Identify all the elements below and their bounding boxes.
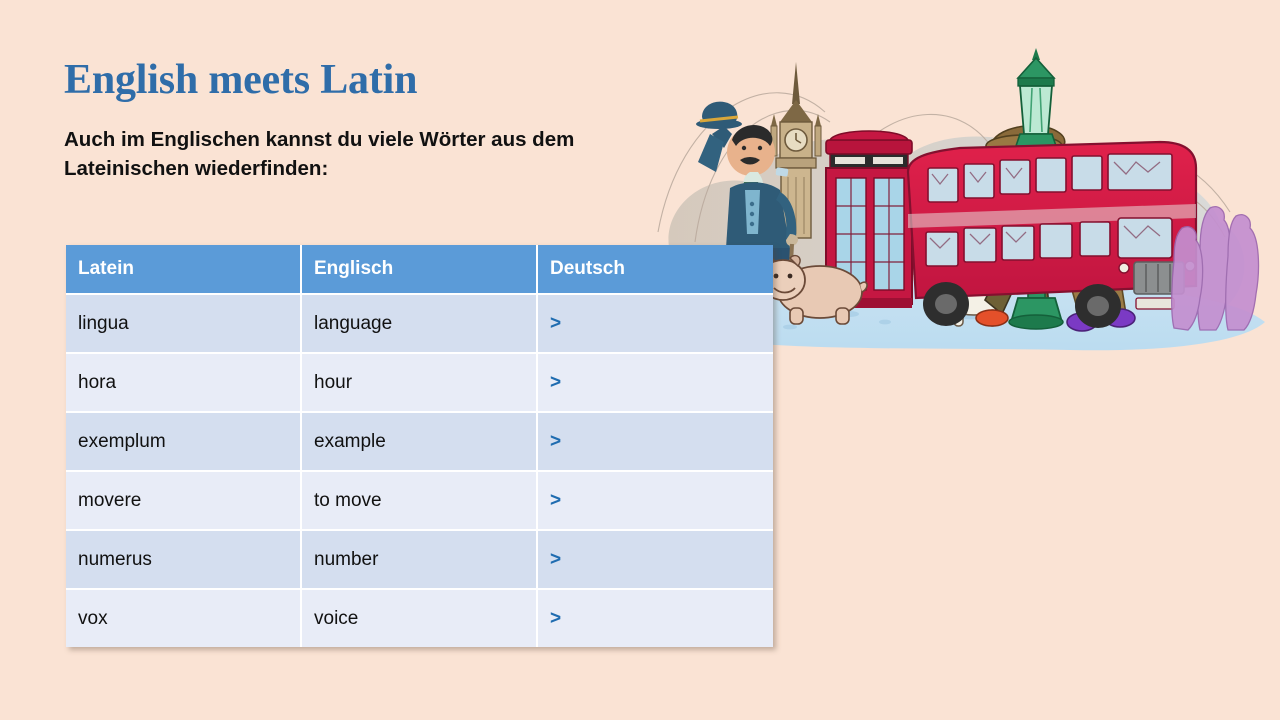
- slide-canvas: English meets Latin Auch im Englischen k…: [0, 0, 1280, 720]
- girl-with-braids-backpack-icon: [1039, 144, 1135, 331]
- red-telephone-box-icon: [826, 131, 912, 308]
- distant-buildings-icon: [880, 172, 1010, 275]
- cell-englisch: hour: [301, 353, 537, 412]
- cell-deutsch: >: [537, 353, 773, 412]
- table-row: numerus number >: [66, 530, 773, 589]
- cell-englisch: voice: [301, 589, 537, 647]
- cell-englisch: to move: [301, 471, 537, 530]
- cell-deutsch: >: [537, 471, 773, 530]
- cell-latein: exemplum: [66, 412, 301, 471]
- table-row: exemplum example >: [66, 412, 773, 471]
- green-lamp-post-icon: [1009, 48, 1063, 329]
- column-header-latein: Latein: [66, 245, 301, 294]
- cell-latein: movere: [66, 471, 301, 530]
- column-header-englisch: Englisch: [301, 245, 537, 294]
- cell-latein: hora: [66, 353, 301, 412]
- cell-deutsch: >: [537, 589, 773, 647]
- cell-deutsch: >: [537, 412, 773, 471]
- reveal-chevron-icon[interactable]: >: [550, 608, 561, 629]
- purple-pedestrian-silhouettes-icon: [1172, 207, 1259, 330]
- red-double-decker-bus-icon: [908, 142, 1196, 328]
- vocabulary-table-container: Latein Englisch Deutsch lingua language …: [66, 245, 773, 647]
- table-row: vox voice >: [66, 589, 773, 647]
- cell-englisch: example: [301, 412, 537, 471]
- reveal-chevron-icon[interactable]: >: [550, 431, 561, 452]
- boy-with-hat-icon: [976, 126, 1065, 327]
- cell-englisch: language: [301, 294, 537, 353]
- page-title: English meets Latin: [64, 56, 417, 104]
- cell-latein: numerus: [66, 530, 301, 589]
- cell-englisch: number: [301, 530, 537, 589]
- table-header-row: Latein Englisch Deutsch: [66, 245, 773, 294]
- cell-latein: vox: [66, 589, 301, 647]
- table-row: movere to move >: [66, 471, 773, 530]
- cell-deutsch: >: [537, 294, 773, 353]
- background-terrace-buildings-icon: [1044, 184, 1188, 272]
- table-row: hora hour >: [66, 353, 773, 412]
- white-terrier-dog-icon: [930, 258, 1012, 326]
- reveal-chevron-icon[interactable]: >: [550, 490, 561, 511]
- big-ben-icon: [771, 62, 821, 238]
- reveal-chevron-icon[interactable]: >: [550, 549, 561, 570]
- cell-latein: lingua: [66, 294, 301, 353]
- table-row: lingua language >: [66, 294, 773, 353]
- subtitle-text: Auch im Englischen kannst du viele Wörte…: [64, 125, 604, 183]
- bulldog-icon: [761, 256, 867, 324]
- reveal-chevron-icon[interactable]: >: [550, 372, 561, 393]
- vocabulary-table: Latein Englisch Deutsch lingua language …: [66, 245, 773, 647]
- cell-deutsch: >: [537, 530, 773, 589]
- reveal-chevron-icon[interactable]: >: [550, 313, 561, 334]
- column-header-deutsch: Deutsch: [537, 245, 773, 294]
